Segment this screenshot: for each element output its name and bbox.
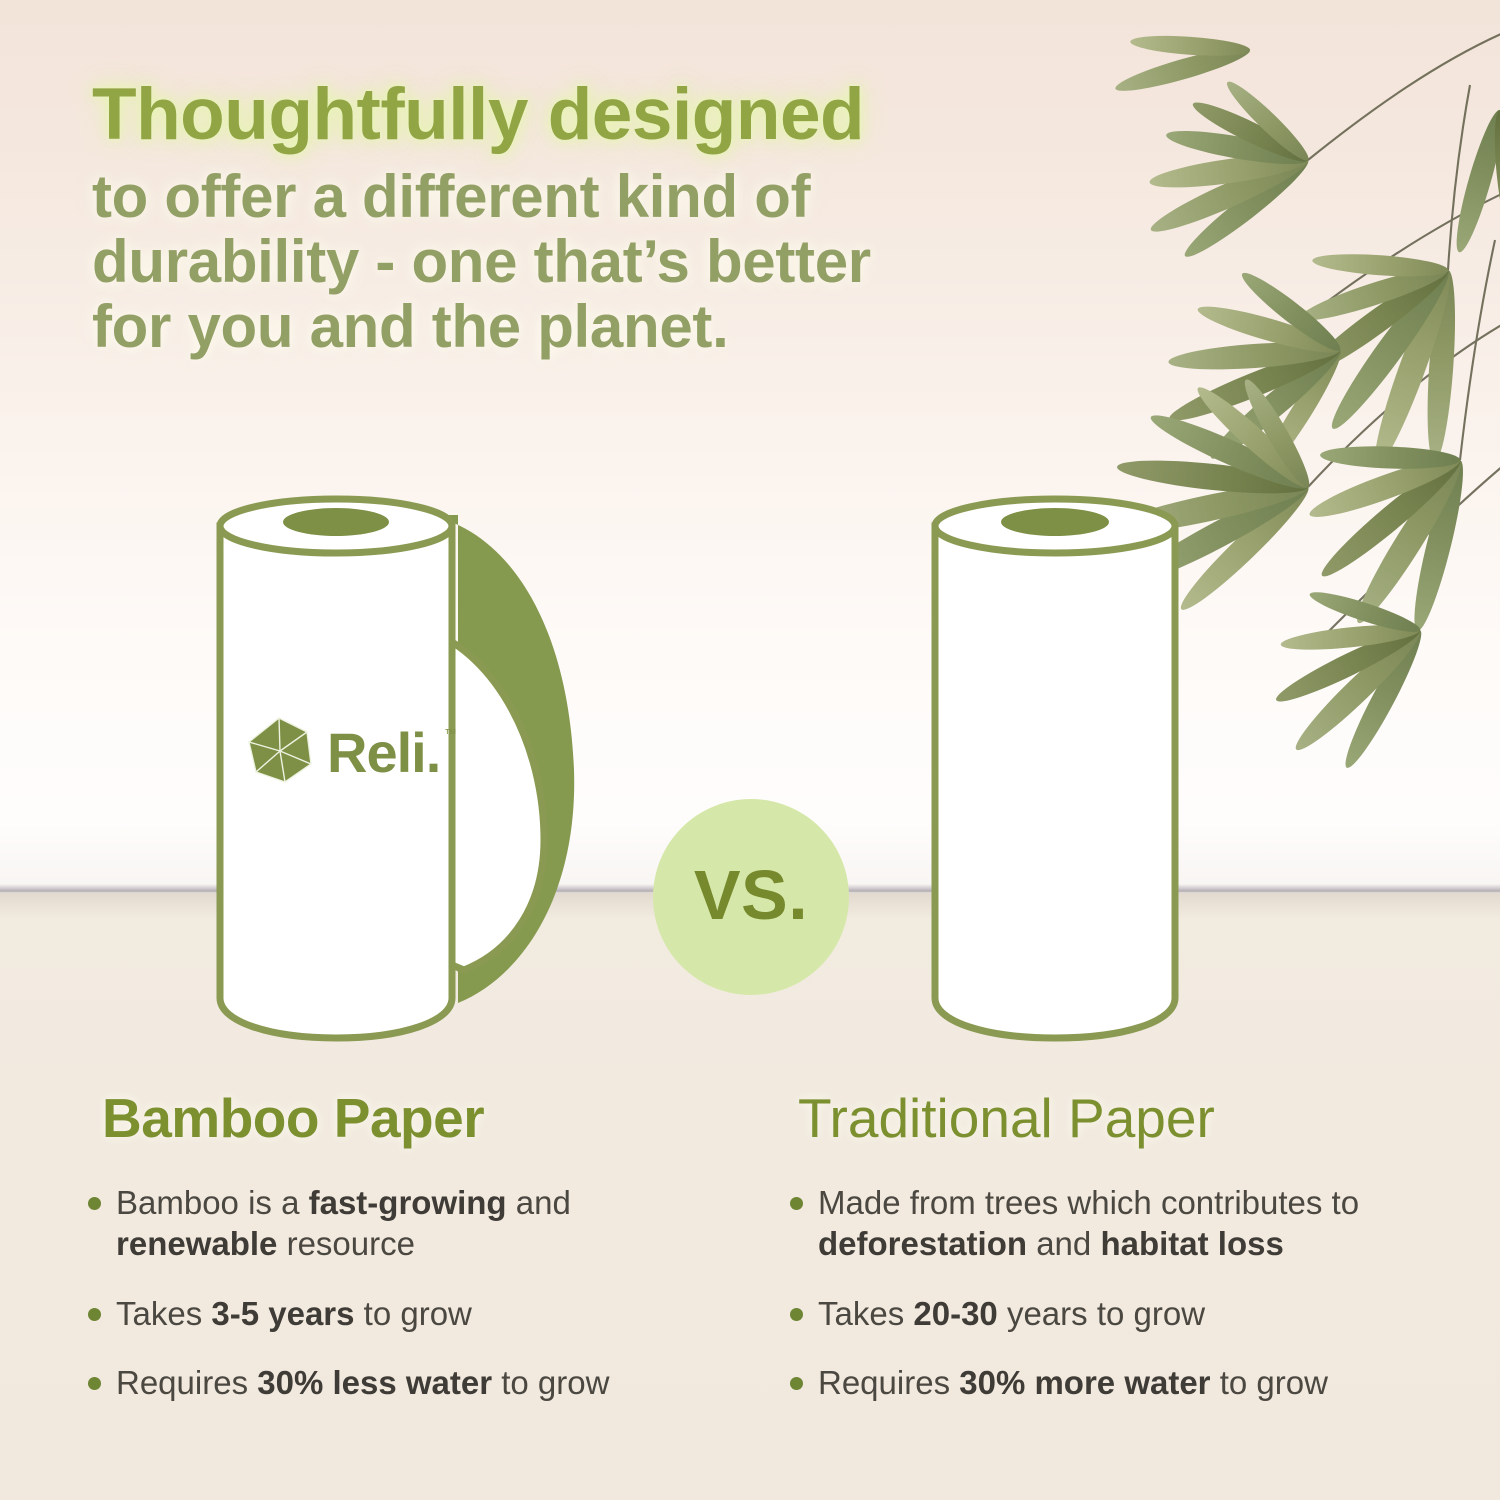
trademark-symbol: ™: [444, 726, 457, 741]
roll-core-hole: [283, 508, 389, 536]
fact-item: Requires 30% more water to grow: [780, 1362, 1470, 1404]
roll-core-hole: [1001, 508, 1109, 536]
vs-badge: VS.: [653, 799, 849, 995]
headline-sub-line-3: for you and the planet.: [92, 293, 1092, 360]
column-title-traditional: Traditional Paper: [780, 1090, 1470, 1148]
fact-item: Made from trees which contributes to def…: [780, 1182, 1470, 1265]
reli-wordmark: Reli.: [327, 721, 440, 784]
headline-primary: Thoughtfully designed: [92, 78, 1092, 151]
fact-item: Takes 3-5 years to grow: [78, 1293, 738, 1335]
poster-canvas: Thoughtfully designed to offer a differe…: [0, 0, 1500, 1500]
column-traditional-paper: Traditional Paper Made from trees which …: [780, 1090, 1470, 1432]
fact-item: Requires 30% less water to grow: [78, 1362, 738, 1404]
comparison-columns: Bamboo Paper Bamboo is a fast-growing an…: [0, 1090, 1500, 1450]
roll-body: [935, 526, 1175, 1038]
vs-label: VS.: [694, 855, 808, 935]
column-title-bamboo: Bamboo Paper: [78, 1090, 738, 1148]
reli-brand-lockup: Reli. ™: [249, 718, 457, 784]
headline-sub-line-1: to offer a different kind of: [92, 163, 1092, 230]
headline-block: Thoughtfully designed to offer a differe…: [92, 78, 1092, 359]
bamboo-paper-roll-illustration: Reli. ™: [196, 470, 626, 1060]
fact-list-bamboo: Bamboo is a fast-growing and renewable r…: [78, 1182, 738, 1404]
product-comparison-stage: Reli. ™ VS.: [0, 470, 1500, 1090]
headline-subtext: to offer a different kind of durability …: [92, 163, 1092, 361]
fact-item: Bamboo is a fast-growing and renewable r…: [78, 1182, 738, 1265]
fact-item: Takes 20-30 years to grow: [780, 1293, 1470, 1335]
column-bamboo-paper: Bamboo Paper Bamboo is a fast-growing an…: [78, 1090, 738, 1432]
fact-list-traditional: Made from trees which contributes to def…: [780, 1182, 1470, 1404]
headline-sub-line-2: durability - one that’s better: [92, 228, 1092, 295]
traditional-paper-roll-illustration: [905, 470, 1205, 1060]
